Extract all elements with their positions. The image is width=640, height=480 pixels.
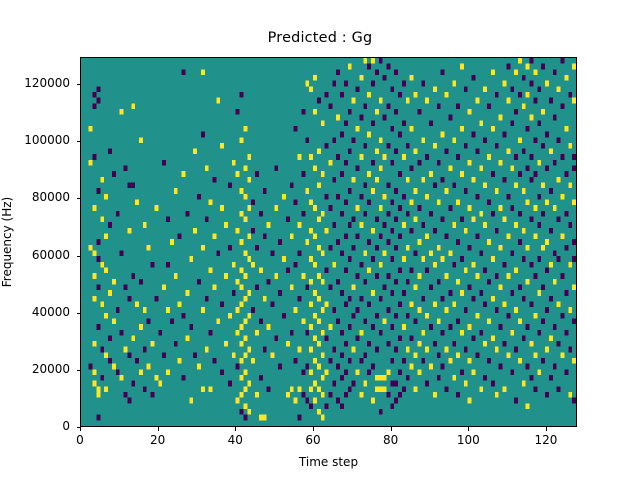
heatmap-plot-area[interactable] (80, 57, 577, 427)
y-tick-label: 120000 (0, 76, 70, 90)
y-tick-label: 0 (0, 419, 70, 433)
x-tick-label: 120 (516, 433, 576, 447)
x-tick-mark (391, 427, 392, 431)
y-tick-mark (77, 370, 81, 371)
x-axis-label: Time step (80, 455, 577, 469)
y-tick-label: 100000 (0, 133, 70, 147)
y-tick-label: 20000 (0, 362, 70, 376)
y-tick-label: 80000 (0, 190, 70, 204)
x-tick-mark (468, 427, 469, 431)
x-tick-mark (158, 427, 159, 431)
x-tick-label: 60 (283, 433, 343, 447)
y-tick-mark (77, 198, 81, 199)
y-axis-label: Frequency (Hz) (0, 197, 14, 288)
y-tick-mark (77, 141, 81, 142)
y-tick-mark (77, 256, 81, 257)
y-tick-mark (77, 84, 81, 85)
x-tick-label: 100 (438, 433, 498, 447)
y-tick-label: 40000 (0, 305, 70, 319)
y-tick-mark (77, 427, 81, 428)
x-tick-label: 0 (50, 433, 110, 447)
x-tick-mark (546, 427, 547, 431)
x-tick-label: 80 (361, 433, 421, 447)
x-tick-label: 40 (205, 433, 265, 447)
y-tick-mark (77, 313, 81, 314)
figure-canvas: Predicted : Gg Frequency (Hz) 0204060801… (0, 0, 640, 480)
page-title: Predicted : Gg (0, 30, 640, 46)
heatmap-image (81, 58, 576, 426)
x-tick-mark (80, 427, 81, 431)
x-tick-mark (313, 427, 314, 431)
x-tick-label: 20 (128, 433, 188, 447)
y-tick-label: 60000 (0, 248, 70, 262)
x-tick-mark (235, 427, 236, 431)
